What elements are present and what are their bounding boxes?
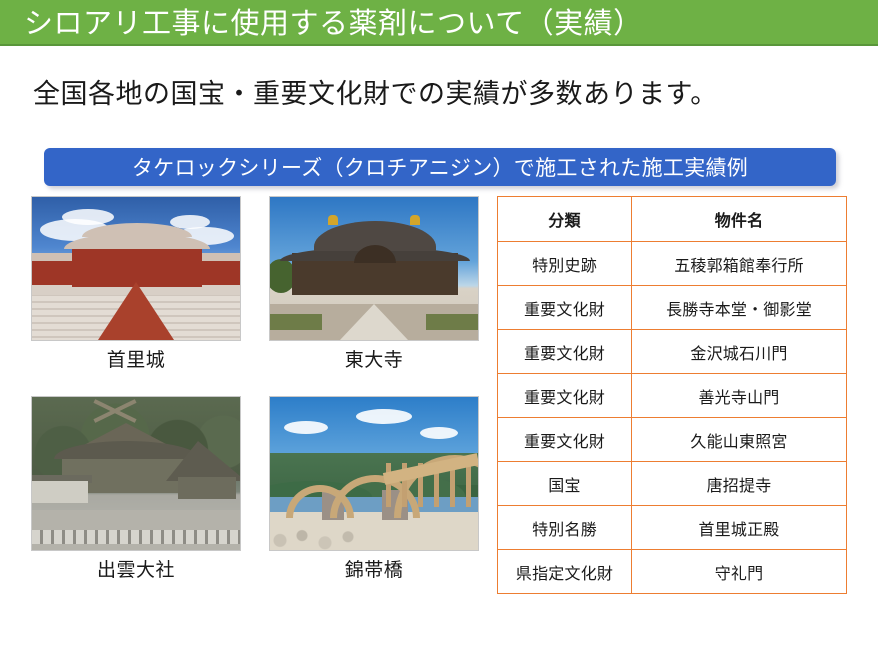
table-row: 重要文化財 金沢城石川門 <box>498 330 847 374</box>
table-row: 県指定文化財 守礼門 <box>498 550 847 594</box>
cell-kind: 国宝 <box>498 462 632 506</box>
cell-kind: 重要文化財 <box>498 286 632 330</box>
cell-name: 長勝寺本堂・御影堂 <box>632 286 847 330</box>
table-row: 重要文化財 久能山東照宮 <box>498 418 847 462</box>
cell-name: 唐招提寺 <box>632 462 847 506</box>
cell-kind: 特別名勝 <box>498 506 632 550</box>
cell-kind: 特別史跡 <box>498 242 632 286</box>
cell-kind: 重要文化財 <box>498 330 632 374</box>
cell-name: 守礼門 <box>632 550 847 594</box>
photo-caption-shuri: 首里城 <box>31 345 241 372</box>
table-row: 重要文化財 長勝寺本堂・御影堂 <box>498 286 847 330</box>
cell-kind: 重要文化財 <box>498 418 632 462</box>
photo-grid: 首里城 東大寺 <box>31 196 481 582</box>
table-header-row: 分類 物件名 <box>498 197 847 242</box>
cell-name: 五稜郭箱館奉行所 <box>632 242 847 286</box>
cell-name: 首里城正殿 <box>632 506 847 550</box>
cell-name: 善光寺山門 <box>632 374 847 418</box>
table-header-name: 物件名 <box>632 197 847 242</box>
results-table: 分類 物件名 特別史跡 五稜郭箱館奉行所 重要文化財 長勝寺本堂・御影堂 重要文… <box>497 196 847 594</box>
cell-kind: 重要文化財 <box>498 374 632 418</box>
table-row: 特別名勝 首里城正殿 <box>498 506 847 550</box>
shuri-castle-photo <box>31 196 241 341</box>
photo-row-2: 出雲大社 錦帯橋 <box>31 396 481 582</box>
photo-cell-shuri: 首里城 <box>31 196 241 372</box>
cell-name: 久能山東照宮 <box>632 418 847 462</box>
izumo-taisha-photo <box>31 396 241 551</box>
cell-kind: 県指定文化財 <box>498 550 632 594</box>
lead-sentence: 全国各地の国宝・重要文化財での実績が多数あります。 <box>33 72 718 111</box>
series-banner-label: タケロックシリーズ（クロチアニジン）で施工された施工実績例 <box>132 152 748 182</box>
photo-caption-izumo: 出雲大社 <box>31 555 241 582</box>
series-banner: タケロックシリーズ（クロチアニジン）で施工された施工実績例 <box>44 148 836 186</box>
cell-name: 金沢城石川門 <box>632 330 847 374</box>
table-row: 重要文化財 善光寺山門 <box>498 374 847 418</box>
table-row: 国宝 唐招提寺 <box>498 462 847 506</box>
photo-cell-todaiji: 東大寺 <box>269 196 479 372</box>
kintaikyo-bridge-photo <box>269 396 479 551</box>
photo-cell-izumo: 出雲大社 <box>31 396 241 582</box>
photo-row-1: 首里城 東大寺 <box>31 196 481 372</box>
photo-caption-todaiji: 東大寺 <box>269 345 479 372</box>
photo-caption-kintaikyo: 錦帯橋 <box>269 555 479 582</box>
table-row: 特別史跡 五稜郭箱館奉行所 <box>498 242 847 286</box>
todaiji-temple-photo <box>269 196 479 341</box>
table-header-kind: 分類 <box>498 197 632 242</box>
photo-cell-kintaikyo: 錦帯橋 <box>269 396 479 582</box>
page-title: シロアリ工事に使用する薬剤について（実績） <box>24 0 643 42</box>
page-header-bar: シロアリ工事に使用する薬剤について（実績） <box>0 0 878 46</box>
